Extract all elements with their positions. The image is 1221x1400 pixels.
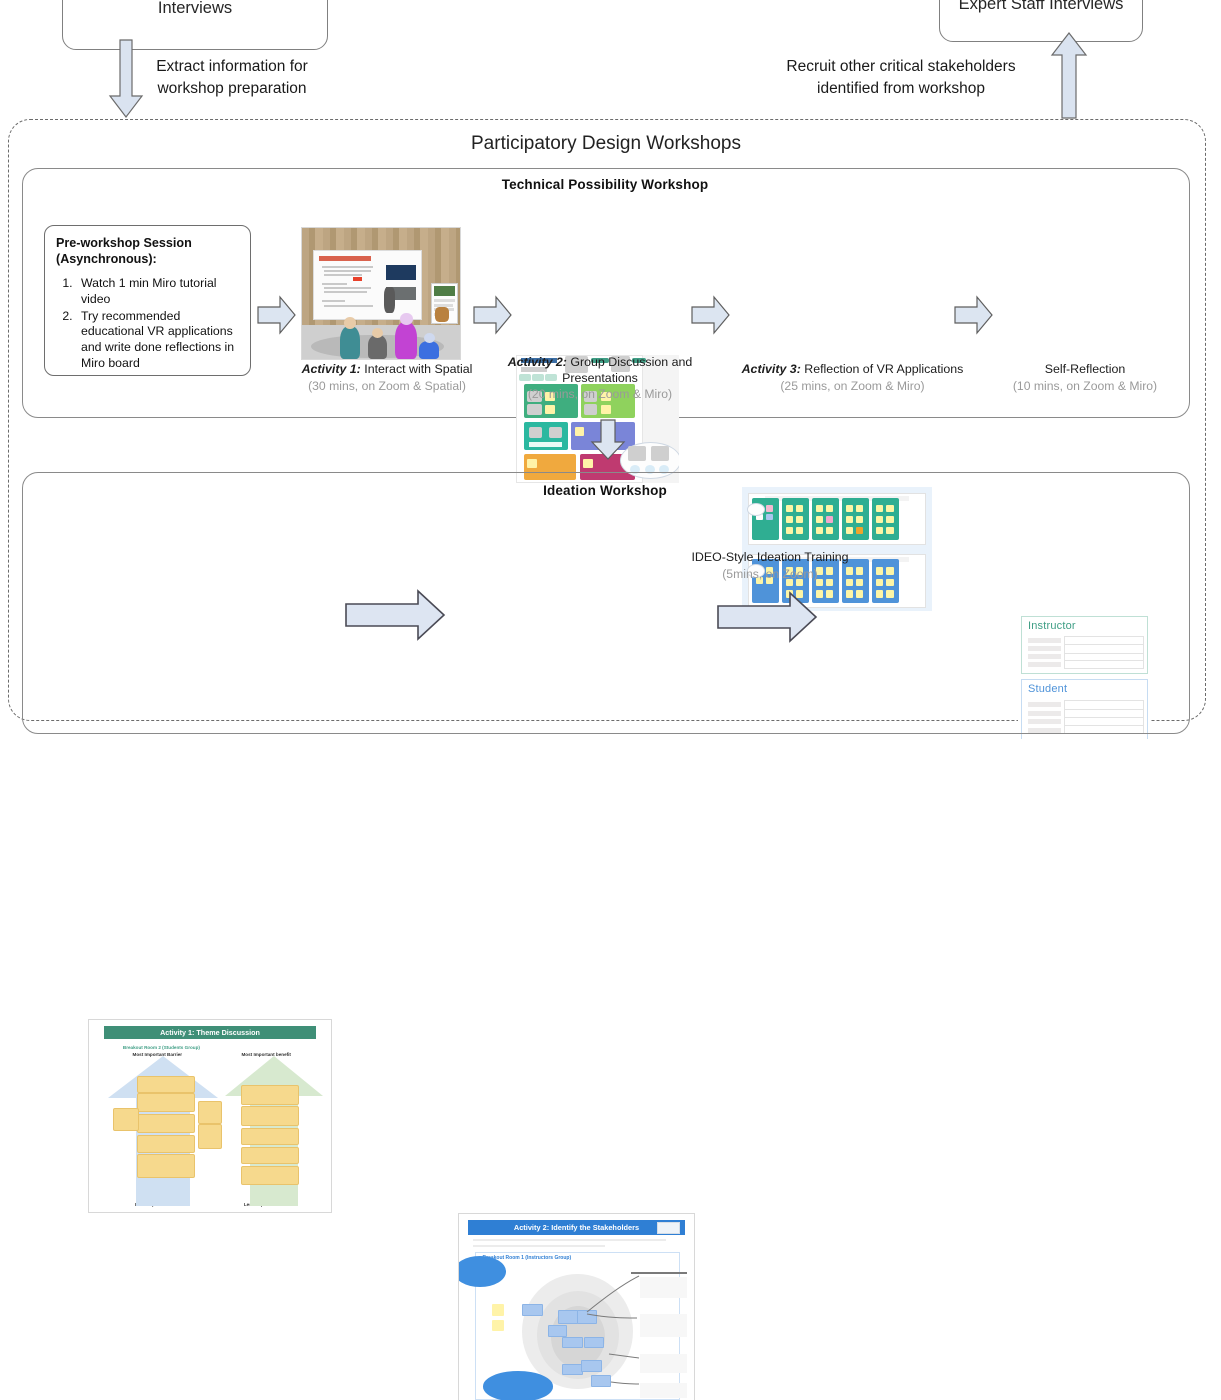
step-arrow-4 [955,295,993,335]
activity-3-sub: (25 mins, on Zoom & Miro) [715,379,990,394]
step-arrow-1 [258,295,296,335]
pre-workshop-task-2: Try recommended educational VR applicati… [76,309,240,372]
activity-2-caption: Activity 2: Group Discussion and Present… [495,355,705,403]
vr-avatar [395,322,417,359]
participatory-design-workshops-title: Participatory Design Workshops [8,133,1204,155]
extract-information-arrow [108,40,144,118]
vr-avatar [419,341,440,359]
extract-information-label: Extract information for workshop prepara… [143,56,321,101]
expert-staff-interviews-box: Expert Staff Interviews [939,0,1143,42]
activity-1-caption: Activity 1: Interact with Spatial (30 mi… [292,362,482,394]
extract-information-line2: workshop preparation [143,78,321,100]
theme-discussion-header: Activity 1: Theme Discussion [104,1026,317,1039]
ideo-training-label: IDEO-Style Ideation Training [691,550,848,564]
activity-2-name: Group Discussion and Presentations [562,355,692,385]
sticky-cloud-note [483,1371,554,1400]
ideation-activity-1-theme-discussion-thumbnail: Activity 1: Theme Discussion Breakout Ro… [88,1019,332,1213]
vr-presentation-screen [313,250,422,320]
pre-workshop-heading-line2: (Asynchronous): [56,251,240,267]
ideation-workshop-title: Ideation Workshop [22,483,1188,498]
vr-avatar [368,335,387,359]
pre-workshop-heading-line1: Pre-workshop Session [56,235,240,251]
activity-1-label: Activity 1: [302,362,361,376]
recruit-stakeholders-arrow [1050,33,1088,119]
interviews-box: Interviews [62,0,328,50]
self-reflection-name: Self-Reflection [1045,362,1126,376]
recruit-stakeholders-label: Recruit other critical stakeholders iden… [760,56,1042,101]
extract-information-line1: Extract information for [143,56,321,78]
ideo-training-caption: IDEO-Style Ideation Training (5mins, on … [690,550,850,582]
activity-3-caption: Activity 3: Reflection of VR Application… [715,362,990,394]
recruit-stakeholders-line2: identified from workshop [760,78,1042,100]
activity-1-sub: (30 mins, on Zoom & Spatial) [292,379,482,394]
ideation-arrow-1 [346,588,446,642]
recruit-stakeholders-line1: Recruit other critical stakeholders [760,56,1042,78]
ideo-training-sub: (5mins, on Zoom) [690,567,850,582]
expert-staff-interviews-label: Expert Staff Interviews [959,0,1124,14]
theme-discussion-subtitle: Breakout Room 2 (Students Group) [123,1045,200,1050]
step-arrow-3 [692,295,730,335]
workshop-connector-arrow [591,420,625,460]
activity-3-label: Activity 3: [742,362,801,376]
pre-workshop-task-list: Watch 1 min Miro tutorial video Try reco… [56,276,240,371]
interviews-label: Interviews [158,0,232,18]
vr-avatar [340,326,361,359]
ideation-workshop-panel [22,472,1190,734]
ideation-arrow-2 [718,590,818,644]
self-reflection-sub: (10 mins, on Zoom & Miro) [995,379,1175,394]
activity-2-sub: (20 mins, on Zoom & Miro) [495,387,705,402]
step-arrow-2 [474,295,512,335]
activity-1-name: Interact with Spatial [361,362,473,376]
theme-discussion-title: Activity 1: Theme Discussion [160,1028,260,1037]
technical-possibility-workshop-title: Technical Possibility Workshop [22,177,1188,192]
pre-workshop-task-1: Watch 1 min Miro tutorial video [76,276,240,307]
activity-1-vr-classroom-thumbnail [301,227,461,360]
activity-2-label: Activity 2: [508,355,567,369]
self-reflection-caption: Self-Reflection (10 mins, on Zoom & Miro… [995,362,1175,394]
activity-3-name: Reflection of VR Applications [801,362,964,376]
vr-avatar [435,307,449,323]
pre-workshop-session-box: Pre-workshop Session (Asynchronous): Wat… [44,225,251,376]
ideation-activity-2-stakeholders-thumbnail: Activity 2: Identify the Stakeholders Br… [458,1213,695,1400]
vr-avatar [384,287,395,313]
